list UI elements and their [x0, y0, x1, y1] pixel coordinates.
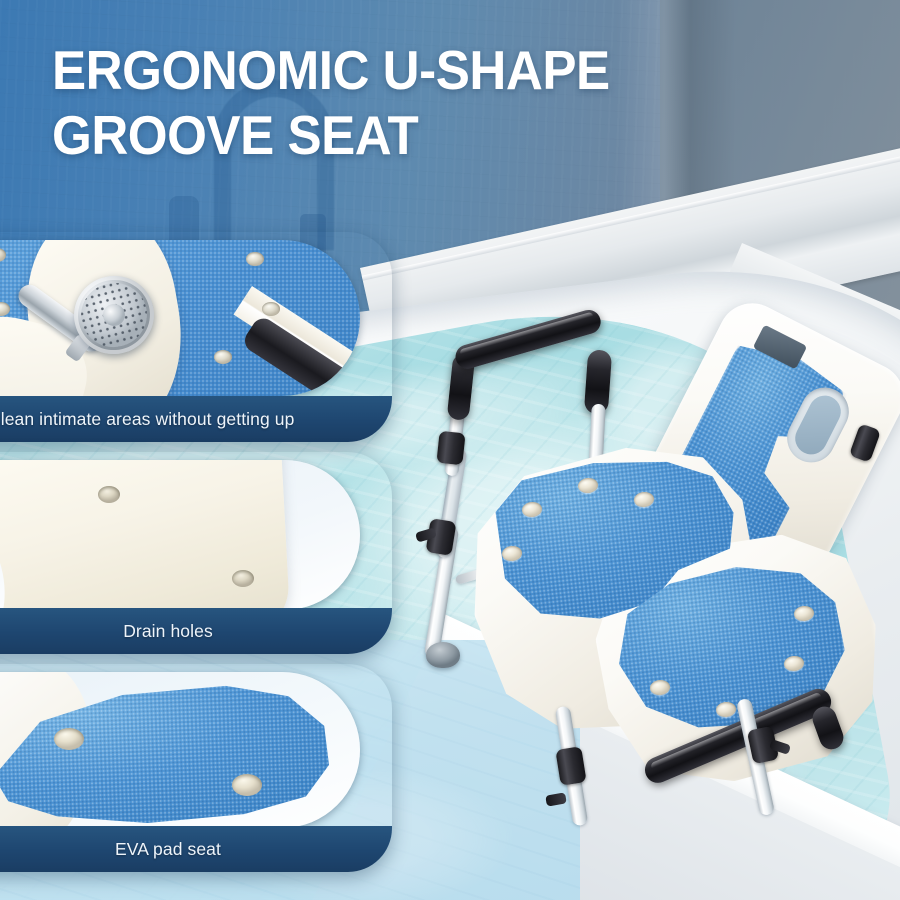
feature-photo-1-drain-hole-d — [262, 302, 280, 316]
feature-caption-3: EVA pad seat — [0, 826, 392, 872]
feature-card-eva-pad-seat[interactable]: EVA pad seat — [0, 664, 392, 872]
feature-caption-3-text: EVA pad seat — [115, 839, 221, 860]
feature-photo-1-backdrop — [0, 240, 360, 396]
page-title-line-1: ERGONOMIC U-SHAPE — [52, 38, 815, 103]
page-title-line-2: GROOVE SEAT — [52, 103, 815, 168]
feature-photo-3-drain-hole-b — [232, 774, 262, 796]
clamp-upright-left — [436, 431, 465, 466]
feature-photo-3-drain-hole-a — [54, 728, 84, 750]
feature-photo-1-drain-hole-e — [214, 350, 232, 364]
feature-caption-2-text: Drain holes — [123, 621, 213, 642]
page-title: ERGONOMIC U-SHAPE GROOVE SEAT — [52, 38, 815, 169]
feature-caption-1-text: Clean intimate areas without getting up — [0, 409, 294, 430]
product-marketing-image: Clean intimate areas without getting up … — [0, 0, 900, 900]
feature-photo-3-backdrop — [0, 672, 360, 828]
feature-photo-eva-pad — [0, 672, 360, 828]
feature-card-clean-intimate-areas[interactable]: Clean intimate areas without getting up — [0, 232, 392, 442]
feature-photo-2-backdrop — [0, 460, 360, 610]
feature-caption-2: Drain holes — [0, 608, 392, 654]
feature-caption-1: Clean intimate areas without getting up — [0, 396, 392, 442]
foot-rear-left — [426, 642, 460, 668]
clamp-lever-front-center — [545, 792, 567, 806]
feature-photo-2-seat-surface — [0, 460, 291, 610]
shower-transfer-bench — [398, 330, 900, 850]
feature-photo-shower-head — [0, 240, 360, 396]
feature-card-drain-holes[interactable]: Drain holes — [0, 452, 392, 654]
clamp-front-center — [555, 746, 586, 786]
feature-photo-2-drain-hole-a — [98, 486, 120, 503]
feature-photo-2-drain-hole-b — [232, 570, 254, 587]
feature-photo-drain-holes — [0, 460, 360, 610]
feature-photo-1-drain-hole-c — [246, 252, 264, 266]
